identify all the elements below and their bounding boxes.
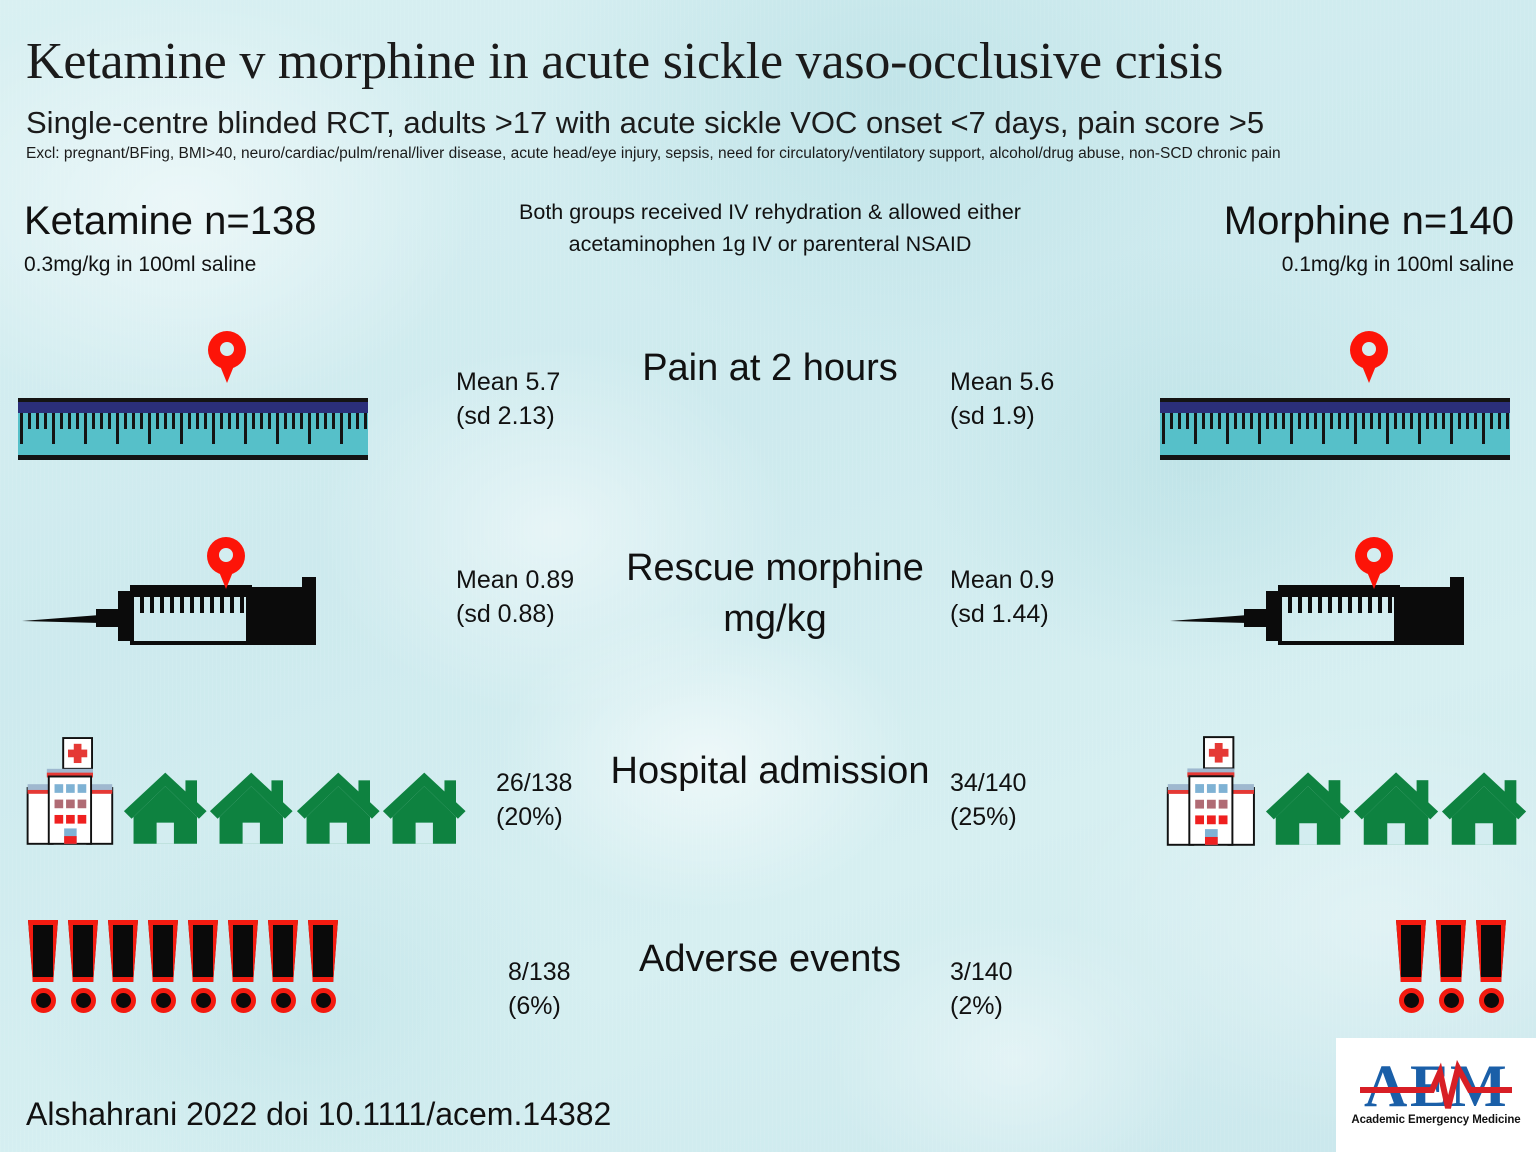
stat-left-admission-value: 26/138 xyxy=(496,766,572,800)
exclamation-icon xyxy=(1432,920,1470,1020)
outcome-label-admission: Hospital admission xyxy=(610,746,930,797)
stat-right-rescue: Mean 0.9 (sd 1.44) xyxy=(950,563,1054,631)
stat-left-adverse-detail: (6%) xyxy=(508,989,571,1023)
stat-left-pain-detail: (sd 2.13) xyxy=(456,399,560,433)
house-icon xyxy=(1352,730,1440,848)
syringe-glyph xyxy=(22,525,362,645)
stat-right-admission: 34/140 (25%) xyxy=(950,766,1026,834)
stat-left-pain: Mean 5.7 (sd 2.13) xyxy=(456,365,560,433)
aem-logo-subtitle: Academic Emergency Medicine xyxy=(1336,1114,1536,1126)
hospital-icon xyxy=(1158,730,1264,848)
stat-right-adverse-value: 3/140 xyxy=(950,955,1013,989)
stat-left-adverse: 8/138 (6%) xyxy=(508,955,571,1023)
stat-right-rescue-detail: (sd 1.44) xyxy=(950,597,1054,631)
adverse-icons-right xyxy=(1312,920,1512,1025)
stat-left-admission-detail: (20%) xyxy=(496,800,572,834)
exclusion-criteria: Excl: pregnant/BFing, BMI>40, neuro/card… xyxy=(26,144,1526,163)
page-subtitle: Single-centre blinded RCT, adults >17 wi… xyxy=(26,105,1521,141)
stat-left-pain-value: Mean 5.7 xyxy=(456,365,560,399)
aem-logo-mark: A E M xyxy=(1336,1038,1536,1152)
outcome-row-adverse: 8/138 (6%) Adverse events 3/140 (2%) xyxy=(0,920,1536,1045)
exclamation-icon xyxy=(144,920,182,1020)
stat-left-rescue: Mean 0.89 (sd 0.88) xyxy=(456,563,574,631)
adverse-icons-left xyxy=(24,920,354,1025)
exclamation-icon xyxy=(264,920,302,1020)
house-icon xyxy=(208,730,295,848)
exclamation-icon xyxy=(104,920,142,1020)
stat-right-adverse: 3/140 (2%) xyxy=(950,955,1013,1023)
map-pin-icon xyxy=(208,331,246,383)
both-groups-note: Both groups received IV rehydration & al… xyxy=(470,196,1070,260)
stat-right-admission-value: 34/140 xyxy=(950,766,1026,800)
admission-icons-right xyxy=(1158,728,1528,848)
ruler-icon-left xyxy=(18,325,378,460)
outcome-label-pain: Pain at 2 hours xyxy=(600,343,940,394)
stat-left-rescue-detail: (sd 0.88) xyxy=(456,597,574,631)
house-icon xyxy=(1440,730,1528,848)
stat-left-admission: 26/138 (20%) xyxy=(496,766,572,834)
both-groups-note-line1: Both groups received IV rehydration & al… xyxy=(470,196,1070,228)
syringe-icon-left xyxy=(22,525,372,645)
stat-right-rescue-value: Mean 0.9 xyxy=(950,563,1054,597)
ruler-icon-right xyxy=(1160,325,1520,460)
outcome-row-rescue: Mean 0.89 (sd 0.88) Rescue morphine mg/k… xyxy=(0,525,1536,665)
house-icon xyxy=(1264,730,1352,848)
aem-logo: A E M Academic Emergency Medicine xyxy=(1336,1038,1536,1152)
arm-left-dose: 0.3mg/kg in 100ml saline xyxy=(24,252,256,278)
map-pin-icon xyxy=(207,537,245,589)
citation: Alshahrani 2022 doi 10.1111/acem.14382 xyxy=(26,1094,611,1134)
house-icon xyxy=(381,730,468,848)
stat-right-pain-detail: (sd 1.9) xyxy=(950,399,1054,433)
both-groups-note-line2: acetaminophen 1g IV or parenteral NSAID xyxy=(470,228,1070,260)
stat-right-adverse-detail: (2%) xyxy=(950,989,1013,1023)
exclamation-icon xyxy=(1392,920,1430,1020)
exclamation-icon xyxy=(304,920,342,1020)
syringe-icon-right xyxy=(1170,525,1520,645)
map-pin-icon xyxy=(1355,537,1393,589)
hospital-icon xyxy=(18,730,122,848)
exclamation-icon xyxy=(24,920,62,1020)
exclamation-icon xyxy=(1472,920,1510,1020)
arm-right-dose: 0.1mg/kg in 100ml saline xyxy=(1282,252,1514,278)
house-icon xyxy=(295,730,382,848)
page-title: Ketamine v morphine in acute sickle vaso… xyxy=(26,33,1516,91)
infographic-page: Ketamine v morphine in acute sickle vaso… xyxy=(0,0,1536,1152)
admission-icons-left xyxy=(18,728,468,848)
arm-left-title: Ketamine n=138 xyxy=(24,198,316,244)
stat-right-pain: Mean 5.6 (sd 1.9) xyxy=(950,365,1054,433)
house-icon xyxy=(122,730,209,848)
exclamation-icon xyxy=(224,920,262,1020)
map-pin-icon xyxy=(1350,331,1388,383)
outcome-row-pain: Mean 5.7 (sd 2.13) Pain at 2 hours Mean … xyxy=(0,325,1536,470)
exclamation-icon xyxy=(64,920,102,1020)
stat-left-adverse-value: 8/138 xyxy=(508,955,571,989)
stat-left-rescue-value: Mean 0.89 xyxy=(456,563,574,597)
exclamation-icon xyxy=(184,920,222,1020)
stat-right-admission-detail: (25%) xyxy=(950,800,1026,834)
stat-right-pain-value: Mean 5.6 xyxy=(950,365,1054,399)
outcome-row-admission: 26/138 (20%) Hospital admission 34/140 (… xyxy=(0,728,1536,863)
outcome-label-rescue: Rescue morphine mg/kg xyxy=(580,543,970,645)
svg-text:A: A xyxy=(1364,1053,1407,1119)
syringe-glyph xyxy=(1170,525,1510,645)
outcome-label-adverse: Adverse events xyxy=(620,934,920,985)
arm-right-title: Morphine n=140 xyxy=(1224,198,1514,244)
